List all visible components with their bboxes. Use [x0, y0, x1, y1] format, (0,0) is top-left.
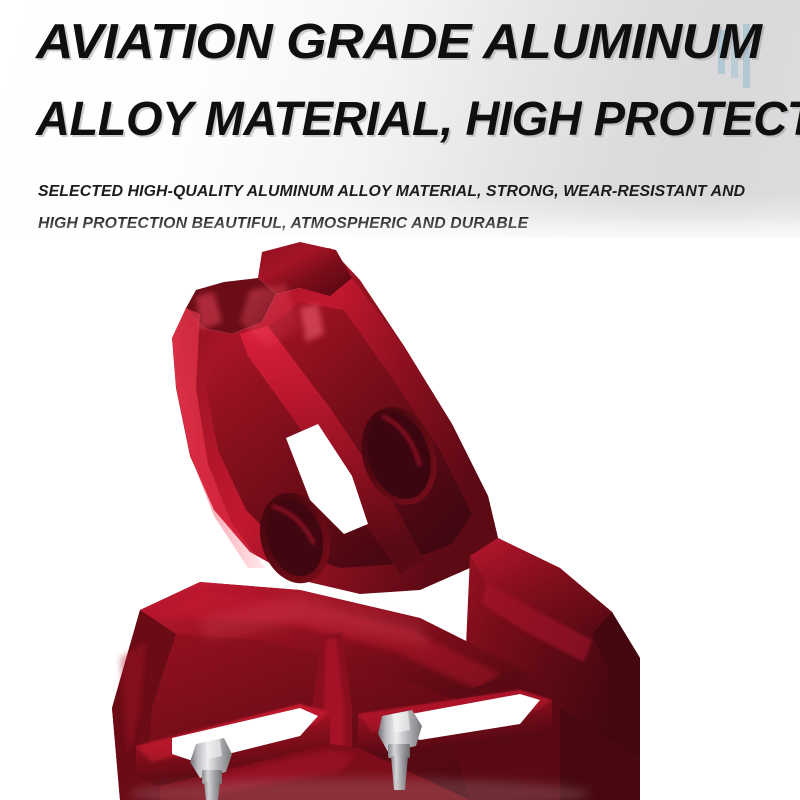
hex-bolt-right-specular [392, 711, 410, 733]
subtitle-line-2: HIGH PROTECTION BEAUTIFUL, ATMOSPHERIC A… [38, 216, 528, 232]
headline-line-1: AVIATION GRADE ALUMINUM [36, 18, 800, 67]
hex-bolt-right-washer [388, 744, 410, 758]
header-section: AVIATION GRADE ALUMINUM ALLOY MATERIAL, … [0, 0, 800, 262]
subtitle-line-1: SELECTED HIGH-QUALITY ALUMINUM ALLOY MAT… [38, 184, 745, 200]
product-image-aluminum-bracket [0, 238, 800, 800]
hex-bolt-left-specular [206, 739, 222, 759]
product-photo [0, 238, 800, 800]
product-banner-page: AVIATION GRADE ALUMINUM ALLOY MATERIAL, … [0, 0, 800, 800]
headline-line-2: ALLOY MATERIAL, HIGH PROTECTION [36, 96, 761, 144]
